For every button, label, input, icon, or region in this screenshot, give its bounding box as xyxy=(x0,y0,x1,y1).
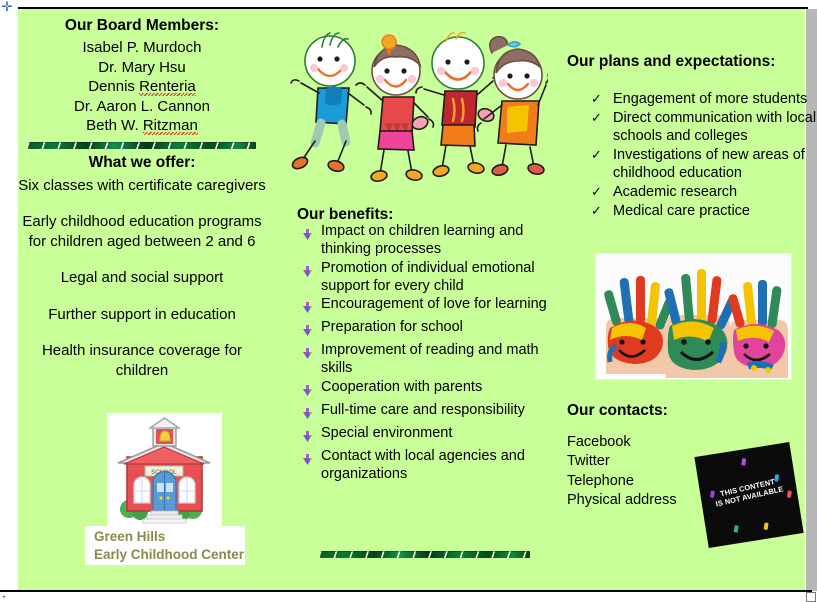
board-member: Dr. Aaron L. Cannon xyxy=(18,97,266,117)
board-members-list: Isabel P. Murdoch Dr. Mary Hsu Dennis Re… xyxy=(18,38,266,136)
brochure-screen: ✛ + Our Board Members: Isabel P. Murdoch… xyxy=(0,0,817,601)
offer-item: Six classes with certificate caregivers xyxy=(18,176,266,196)
middle-column: Our benefits: Impact on children learnin… xyxy=(276,9,526,590)
logo-caption-line1: Green Hills xyxy=(85,526,245,546)
contact-item: Physical address xyxy=(567,491,677,510)
benefits-list: Impact on children learning and thinking… xyxy=(302,222,560,483)
painted-hands-photo xyxy=(595,253,792,380)
content-unavailable-placeholder: THIS CONTENT IS NOT AVAILABLE xyxy=(701,449,803,549)
contacts-list: Facebook Twitter Telephone Physical addr… xyxy=(567,433,677,511)
benefit-item: Improvement of reading and math skills xyxy=(302,341,560,378)
benefit-item: Encouragement of love for learning xyxy=(302,295,560,318)
move-handle-icon[interactable]: ✛ xyxy=(0,0,14,14)
what-we-offer-heading: What we offer: xyxy=(18,154,266,172)
schoolhouse-icon: SCHOOL xyxy=(107,413,222,528)
plan-item: ✓ Investigations of new areas of childho… xyxy=(591,146,817,183)
brochure-page: Our Board Members: Isabel P. Murdoch Dr.… xyxy=(18,9,805,590)
bottom-rule xyxy=(0,590,812,592)
check-icon: ✓ xyxy=(591,146,613,165)
arrow-bullet-icon xyxy=(302,295,321,318)
contact-item: Telephone xyxy=(567,472,677,491)
decorative-divider xyxy=(320,551,530,558)
arrow-bullet-icon xyxy=(302,318,321,341)
check-icon: ✓ xyxy=(591,202,613,221)
benefit-item: Impact on children learning and thinking… xyxy=(302,222,560,259)
left-column: Our Board Members: Isabel P. Murdoch Dr.… xyxy=(18,9,266,590)
check-icon: ✓ xyxy=(591,90,613,109)
check-icon: ✓ xyxy=(591,183,613,202)
offer-item: Further support in education xyxy=(18,305,266,325)
board-member-prefix: Dennis xyxy=(88,78,139,95)
plan-item: ✓ Medical care practice xyxy=(591,202,817,221)
benefit-item: Special environment xyxy=(302,424,560,447)
bottom-left-marker: + xyxy=(2,594,7,599)
offer-item: Health insurance coverage for children xyxy=(18,341,266,380)
arrow-bullet-icon xyxy=(302,378,321,401)
plans-heading: Our plans and expectations: xyxy=(567,53,775,71)
arrow-bullet-icon xyxy=(302,341,321,364)
contact-item: Twitter xyxy=(567,452,677,471)
benefit-item: Contact with local agencies and organiza… xyxy=(302,447,560,484)
check-icon: ✓ xyxy=(591,109,613,128)
children-illustration xyxy=(286,23,548,183)
board-member: Beth W. Ritzman xyxy=(18,116,266,136)
benefit-item: Promotion of individual emotional suppor… xyxy=(302,259,560,296)
arrow-bullet-icon xyxy=(302,424,321,447)
plans-list: ✓ Engagement of more students ✓ Direct c… xyxy=(591,90,817,220)
benefit-item: Cooperation with parents xyxy=(302,378,560,401)
benefit-item: Full-time care and responsibility xyxy=(302,401,560,424)
contact-item: Facebook xyxy=(567,433,677,452)
board-member: Dennis Renteria xyxy=(18,77,266,97)
board-member: Isabel P. Murdoch xyxy=(18,38,266,58)
decorative-divider xyxy=(28,142,256,149)
arrow-bullet-icon xyxy=(302,259,321,282)
board-member: Dr. Mary Hsu xyxy=(18,58,266,78)
offer-item: Legal and social support xyxy=(18,268,266,288)
logo-caption: Green Hills Early Childhood Center xyxy=(85,526,245,565)
benefit-item: Preparation for school xyxy=(302,318,560,341)
board-members-heading: Our Board Members: xyxy=(18,17,266,35)
board-member-prefix: Beth W. xyxy=(86,117,143,134)
arrow-bullet-icon xyxy=(302,222,321,245)
arrow-bullet-icon xyxy=(302,401,321,424)
spellcheck-flagged-word: Renteria xyxy=(139,78,196,95)
plan-item: ✓ Direct communication with local school… xyxy=(591,109,817,146)
plan-item: ✓ Engagement of more students xyxy=(591,90,817,109)
spellcheck-flagged-word: Ritzman xyxy=(143,117,198,134)
contacts-heading: Our contacts: xyxy=(567,402,668,420)
logo-caption-line2: Early Childhood Center xyxy=(85,546,245,564)
organization-logo: SCHOOL xyxy=(85,413,245,565)
arrow-bullet-icon xyxy=(302,447,321,470)
plan-item: ✓ Academic research xyxy=(591,183,817,202)
offer-item: Early childhood education programs for c… xyxy=(18,212,266,251)
right-column: Our plans and expectations: ✓ Engagement… xyxy=(546,9,805,590)
what-we-offer-block: What we offer: Six classes with certific… xyxy=(18,154,266,381)
